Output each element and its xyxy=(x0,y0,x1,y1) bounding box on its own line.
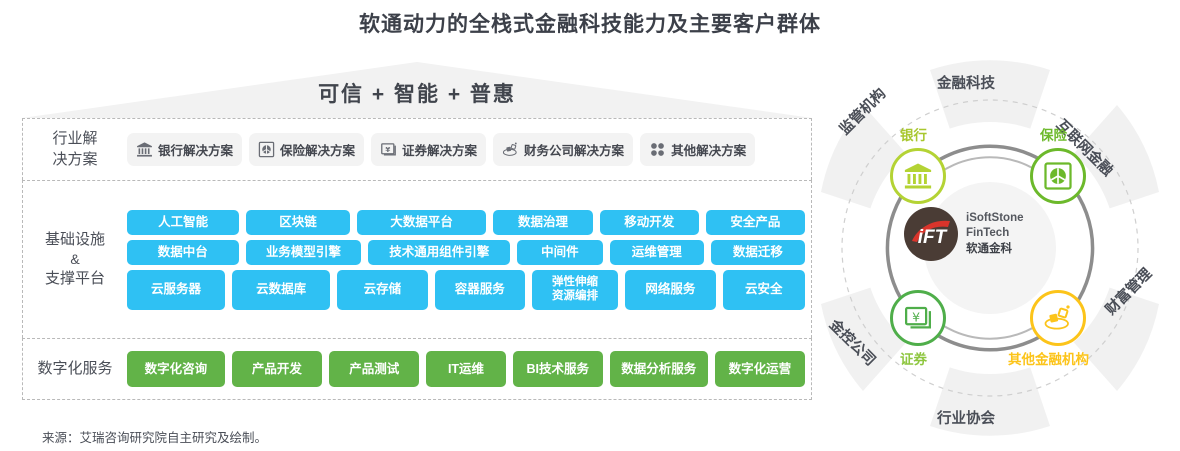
finance-company-icon xyxy=(502,141,519,158)
bank-icon xyxy=(903,161,933,191)
capability-pyramid: 可信 + 智能 + 普惠 行业解 决方案 银行解决方案 xyxy=(22,62,812,407)
infra-tag[interactable]: 容器服务 xyxy=(435,270,525,310)
infra-tag[interactable]: 大数据平台 xyxy=(357,210,487,235)
pyramid-roof-label: 可信 + 智能 + 普惠 xyxy=(22,78,812,108)
solution-card-insurance[interactable]: 保险解决方案 xyxy=(249,133,364,166)
wheel-node-label-bank: 银行 xyxy=(900,124,927,144)
infra-tag[interactable]: 运维管理 xyxy=(610,240,704,265)
infra-tag-row-1: 人工智能 区块链 大数据平台 数据治理 移动开发 安全产品 xyxy=(127,210,805,235)
solution-card-label: 其他解决方案 xyxy=(671,140,746,159)
infra-tag[interactable]: 数据迁移 xyxy=(711,240,805,265)
center-brand-text: iSoftStone FinTech 软通金科 xyxy=(966,211,1024,257)
section-body-industry-solutions: 银行解决方案 保险解决方案 ¥ 证券解决方 xyxy=(127,133,811,166)
section-label-line-2: 决方案 xyxy=(52,151,97,168)
bank-icon xyxy=(136,141,153,158)
infra-tag[interactable]: 数据治理 xyxy=(493,210,592,235)
infra-tag[interactable]: 移动开发 xyxy=(600,210,699,235)
wheel-node-securities[interactable]: ¥ xyxy=(890,290,946,346)
section-label-amp: & xyxy=(23,250,127,269)
grid-dots-icon xyxy=(649,141,666,158)
infra-tag[interactable]: 数据中台 xyxy=(127,240,239,265)
infra-tag-label: 弹性伸缩资源编排 xyxy=(552,276,598,302)
digital-tag[interactable]: BI技术服务 xyxy=(513,351,603,387)
wheel-node-label-securities: 证券 xyxy=(900,348,927,368)
ift-mark-icon: iFT xyxy=(904,207,958,261)
insurance-icon xyxy=(1043,161,1073,191)
section-industry-solutions: 行业解 决方案 银行解决方案 xyxy=(22,118,812,180)
brand-line-2: FinTech xyxy=(966,226,1024,241)
section-label-line-2: 支撑平台 xyxy=(45,270,105,287)
wheel-node-bank[interactable] xyxy=(890,148,946,204)
solution-card-other[interactable]: 其他解决方案 xyxy=(640,133,755,166)
source-note: 来源：艾瑞咨询研究院自主研究及绘制。 xyxy=(42,427,267,446)
infra-tag[interactable]: 人工智能 xyxy=(127,210,239,235)
digital-tag-row: 数字化咨询 产品开发 产品测试 IT运维 BI技术服务 数据分析服务 数字化运营 xyxy=(127,351,805,387)
svg-text:¥: ¥ xyxy=(385,145,390,154)
section-body-digital-services: 数字化咨询 产品开发 产品测试 IT运维 BI技术服务 数据分析服务 数字化运营 xyxy=(127,351,811,387)
digital-tag[interactable]: IT运维 xyxy=(426,351,505,387)
infra-tag-row-3: 云服务器 云数据库 云存储 容器服务 弹性伸缩资源编排 网络服务 云安全 xyxy=(127,270,805,310)
wedge-label-fintech: 金融科技 xyxy=(937,72,995,93)
brand-line-3: 软通金科 xyxy=(966,242,1024,257)
infra-tag[interactable]: 中间件 xyxy=(517,240,603,265)
digital-tag[interactable]: 数字化咨询 xyxy=(127,351,225,387)
infra-tag[interactable]: 业务模型引擎 xyxy=(246,240,362,265)
center-brand-badge: iFT iSoftStone FinTech 软通金科 xyxy=(904,202,1079,266)
infra-tag[interactable]: 区块链 xyxy=(246,210,350,235)
infra-tag[interactable]: 云存储 xyxy=(337,270,427,310)
infra-tag-row-2: 数据中台 业务模型引擎 技术通用组件引擎 中间件 运维管理 数据迁移 xyxy=(127,240,805,265)
digital-tag[interactable]: 数字化运营 xyxy=(715,351,805,387)
solution-card-finance-company[interactable]: 财务公司解决方案 xyxy=(493,133,633,166)
securities-icon: ¥ xyxy=(380,141,397,158)
solution-card-label: 证券解决方案 xyxy=(402,140,477,159)
section-label-digital-services: 数字化服务 xyxy=(23,359,127,379)
digital-tag[interactable]: 产品开发 xyxy=(232,351,322,387)
wheel-node-other-finance[interactable] xyxy=(1030,290,1086,346)
page-title: 软通动力的全栈式金融科技能力及主要客户群体 xyxy=(0,8,1180,38)
solution-card-label: 保险解决方案 xyxy=(280,140,355,159)
insurance-icon xyxy=(258,141,275,158)
infra-tag[interactable]: 云数据库 xyxy=(232,270,330,310)
customer-wheel-diagram: 金融科技 互联网金融 财富管理 行业协会 金控公司 监管机构 银行 保险 ¥ 证… xyxy=(812,52,1168,444)
wheel-node-insurance[interactable] xyxy=(1030,148,1086,204)
solution-card-label: 银行解决方案 xyxy=(158,140,233,159)
infra-tag[interactable]: 云安全 xyxy=(723,270,805,310)
solution-card-row: 银行解决方案 保险解决方案 ¥ 证券解决方 xyxy=(127,133,805,166)
solution-card-securities[interactable]: ¥ 证券解决方案 xyxy=(371,133,486,166)
section-label-infrastructure: 基础设施 & 支撑平台 xyxy=(23,230,127,289)
other-finance-icon xyxy=(1043,303,1073,333)
svg-text:iFT: iFT xyxy=(918,227,948,248)
infra-tag[interactable]: 安全产品 xyxy=(706,210,805,235)
section-label-line-1: 基础设施 xyxy=(45,231,105,248)
infra-tag[interactable]: 云服务器 xyxy=(127,270,225,310)
section-infrastructure: 基础设施 & 支撑平台 人工智能 区块链 大数据平台 数据治理 移动开发 安全产… xyxy=(22,180,812,338)
section-body-infrastructure: 人工智能 区块链 大数据平台 数据治理 移动开发 安全产品 数据中台 业务模型引… xyxy=(127,210,811,310)
digital-tag[interactable]: 数据分析服务 xyxy=(610,351,708,387)
digital-tag[interactable]: 产品测试 xyxy=(329,351,419,387)
wheel-node-label-insurance: 保险 xyxy=(1040,124,1067,144)
section-digital-services: 数字化服务 数字化咨询 产品开发 产品测试 IT运维 BI技术服务 数据分析服务… xyxy=(22,338,812,400)
solution-card-label: 财务公司解决方案 xyxy=(524,140,624,159)
infra-tag-multiline[interactable]: 弹性伸缩资源编排 xyxy=(532,270,618,310)
solution-card-bank[interactable]: 银行解决方案 xyxy=(127,133,242,166)
infra-tag[interactable]: 技术通用组件引擎 xyxy=(368,240,510,265)
wedge-label-industry-association: 行业协会 xyxy=(937,407,995,428)
wheel-node-label-other-finance: 其他金融机构 xyxy=(1008,348,1089,368)
isoftstone-logo-icon: iFT xyxy=(904,207,958,261)
section-label-industry-solutions: 行业解 决方案 xyxy=(23,129,127,170)
section-label-line-1: 行业解 xyxy=(52,130,97,147)
svg-text:¥: ¥ xyxy=(912,310,920,325)
brand-line-1: iSoftStone xyxy=(966,211,1024,226)
securities-icon: ¥ xyxy=(903,303,933,333)
infra-tag[interactable]: 网络服务 xyxy=(625,270,715,310)
